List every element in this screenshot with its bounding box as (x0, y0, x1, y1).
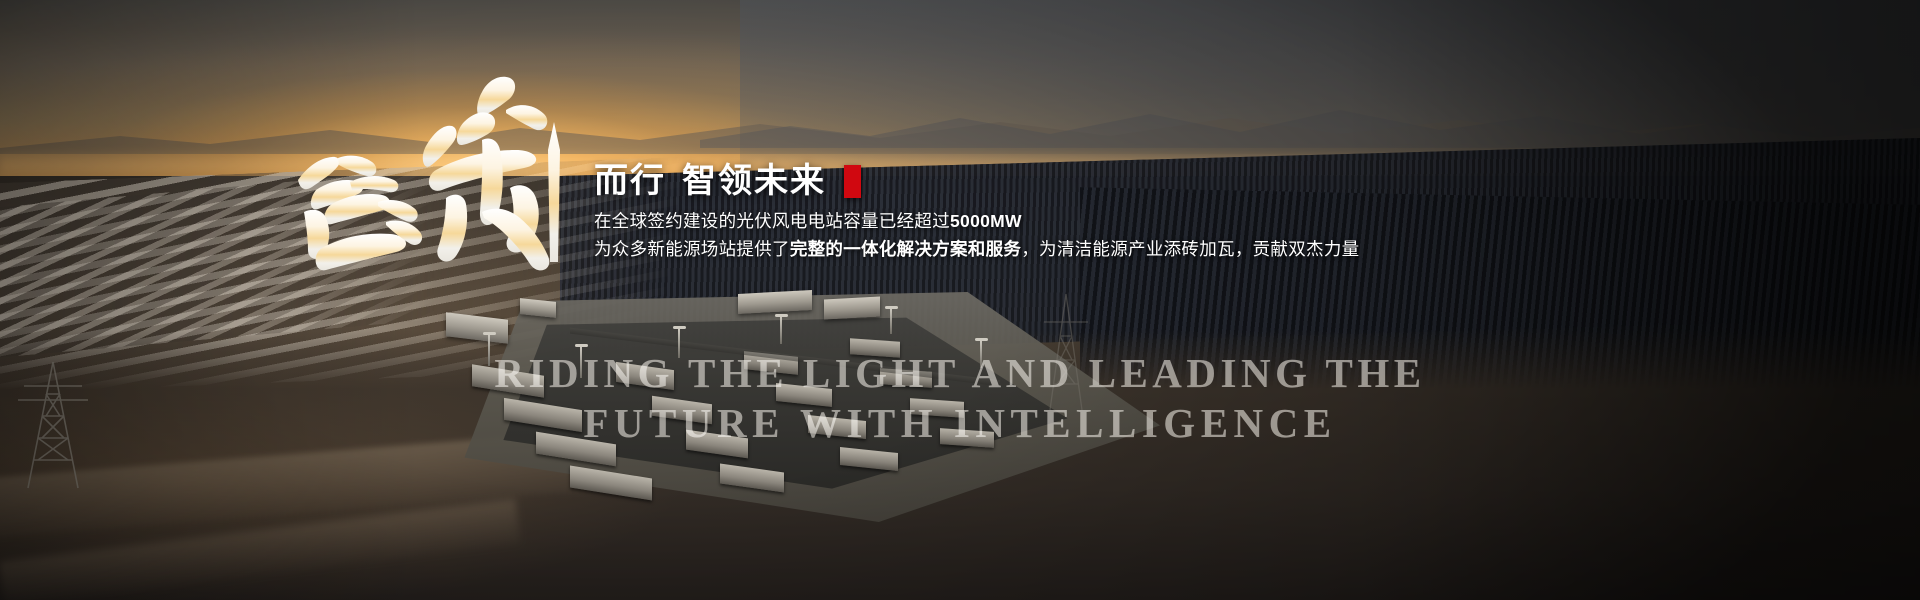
subtitle-line-2: 为众多新能源场站提供了完整的一体化解决方案和服务，为清洁能源产业添砖加瓦，贡献双… (594, 237, 1354, 262)
subtitle-line-2-highlight: 完整的一体化解决方案和服务 (790, 239, 1021, 259)
subtitle-line-2-suffix: ，为清洁能源产业添砖加瓦，贡献双杰力量 (1021, 239, 1359, 259)
hero-banner: 而行 智领未来 在全球签约建设的光伏风电电站容量已经超过5000MW 为众多新能… (0, 0, 1920, 600)
hero-text-block: 而行 智领未来 在全球签约建设的光伏风电电站容量已经超过5000MW 为众多新能… (594, 164, 1354, 262)
subtitle-line-1-text: 在全球签约建设的光伏风电电站容量已经超过 (594, 211, 950, 231)
background-photo (0, 0, 1920, 600)
headline-part-2: 智领未来 (682, 164, 826, 198)
subtitle-line-1-highlight: 5000MW (950, 211, 1022, 231)
red-block-marker (844, 165, 861, 198)
subtitle-line-2-text: 为众多新能源场站提供了 (594, 239, 790, 259)
headline-part-1: 而行 (594, 164, 666, 198)
page-title: 而行 智领未来 (594, 164, 1354, 198)
vignette-overlay (0, 0, 1920, 600)
subtitle-line-1: 在全球签约建设的光伏风电电站容量已经超过5000MW (594, 209, 1354, 234)
